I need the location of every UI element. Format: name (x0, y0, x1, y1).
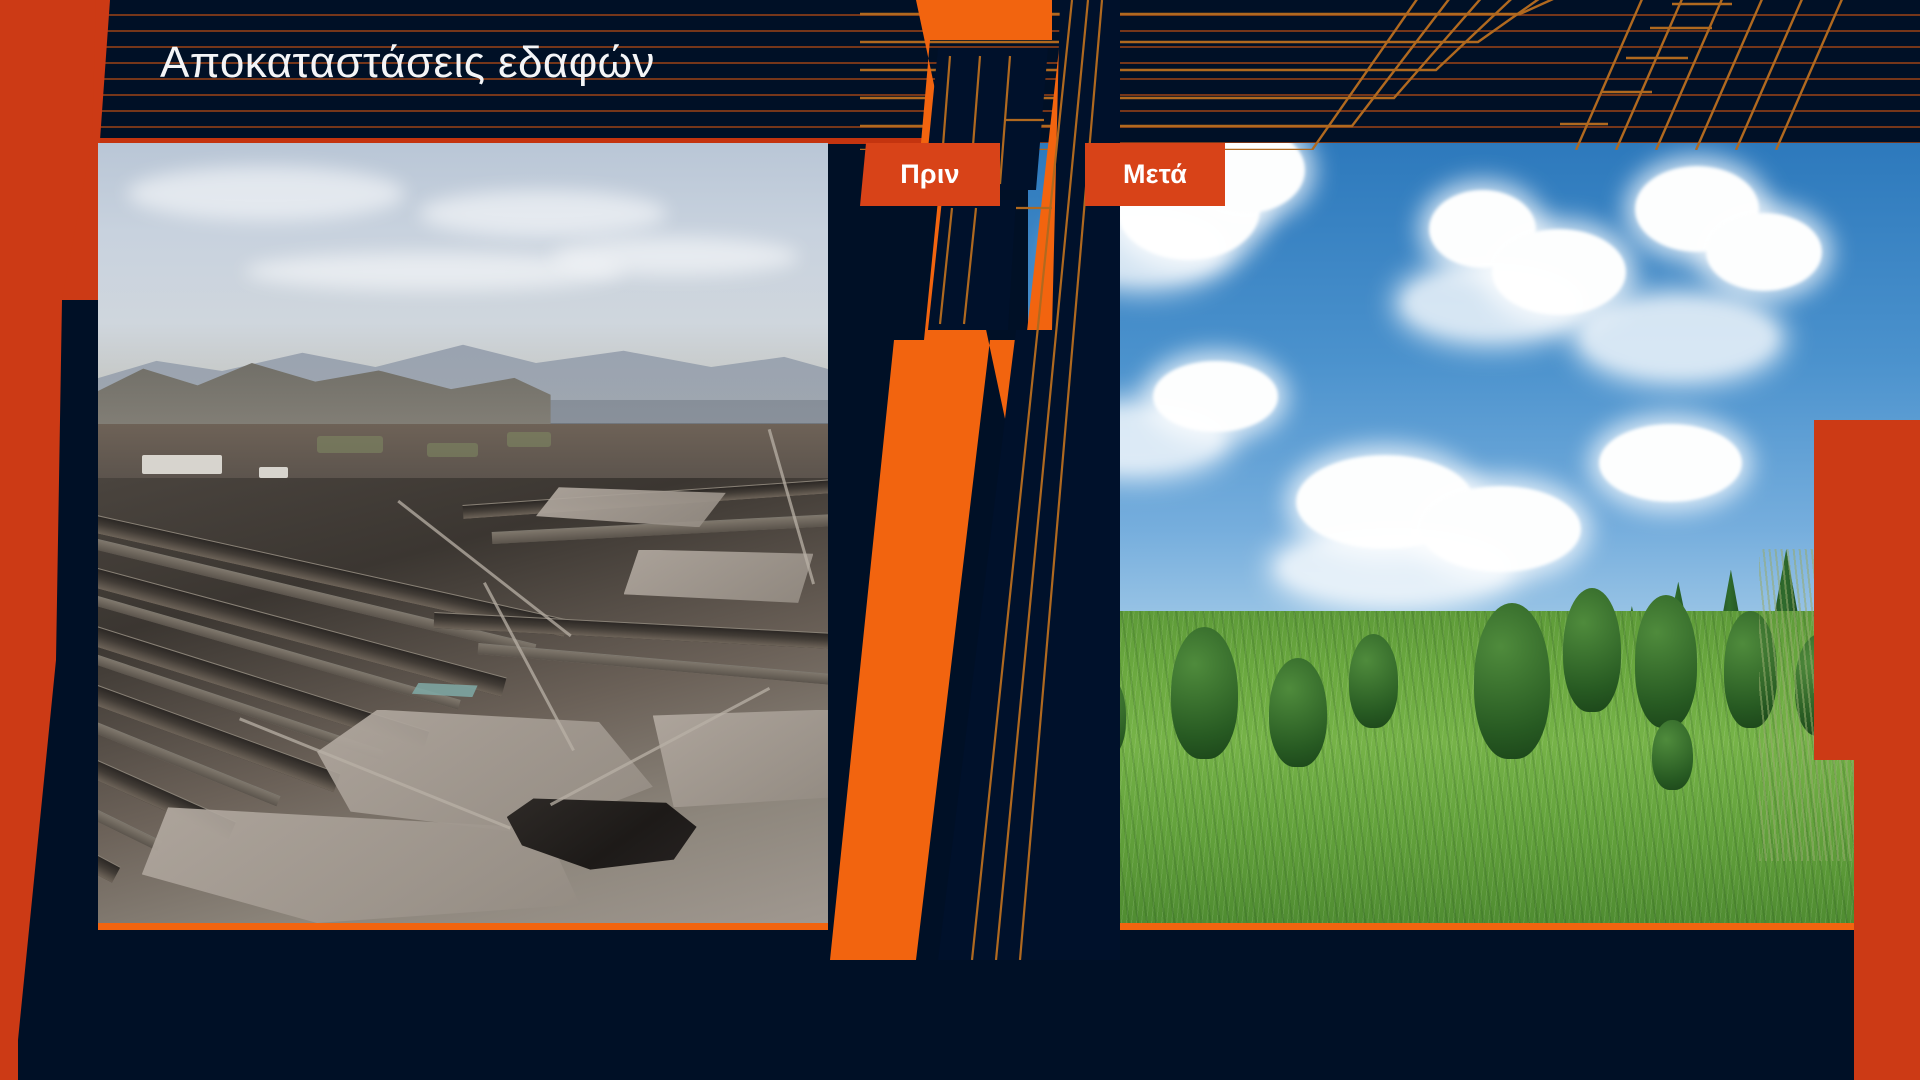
cloud-shape (551, 237, 799, 276)
badge-after-label: Μετά (1123, 159, 1187, 190)
shrub (1082, 673, 1127, 759)
field-patch (427, 443, 478, 457)
shrub (1652, 720, 1692, 790)
field-patch (317, 436, 383, 453)
cloud-shape (127, 166, 404, 221)
cloud-shape (1581, 299, 1777, 377)
field-patch (507, 432, 551, 448)
cloud-shape (419, 190, 667, 237)
work-pad (624, 550, 814, 603)
shrub (1563, 588, 1621, 713)
footer-bar (0, 930, 1920, 1080)
photo-before-mine (98, 143, 828, 930)
page-title: Αποκαταστάσεις εδαφών (160, 38, 655, 88)
badge-before[interactable]: Πριν (860, 143, 1000, 206)
work-pad (536, 487, 726, 527)
mine-scene (98, 143, 828, 923)
badge-before-label: Πριν (900, 159, 960, 190)
slide-canvas: Αποκαταστάσεις εδαφών Πριν Μετά (0, 0, 1920, 1080)
cloud-shape (1064, 213, 1225, 283)
shrub (1349, 634, 1398, 728)
cloud-shape (1403, 268, 1581, 338)
work-pad (653, 710, 828, 808)
shrub (1269, 658, 1327, 767)
cloud-shape (1046, 408, 1224, 470)
white-deposit (142, 455, 222, 474)
white-deposit (259, 467, 288, 478)
badge-after[interactable]: Μετά (1085, 143, 1225, 206)
shrub (1171, 627, 1238, 760)
shrub (1474, 603, 1550, 759)
right-edge-band (1770, 0, 1920, 1080)
mine-pit-body (98, 478, 828, 923)
shrub (1635, 595, 1697, 728)
cloud-shape (1599, 424, 1742, 502)
